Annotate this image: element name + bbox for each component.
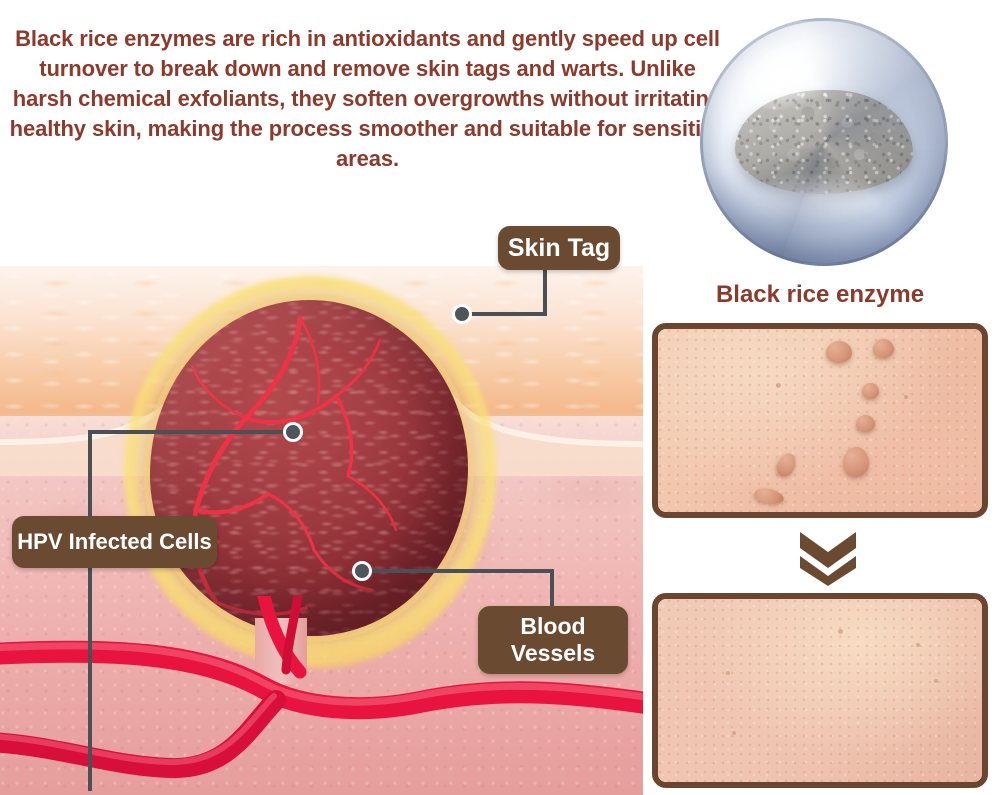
after-photo xyxy=(652,593,988,788)
poster-root: Black rice enzymes are rich in antioxida… xyxy=(0,0,1000,795)
after-freckle-2 xyxy=(916,643,920,647)
ingredient-caption: Black rice enzyme xyxy=(650,281,990,309)
after-freckle-1 xyxy=(838,629,843,634)
skin-tag-1 xyxy=(826,341,852,363)
before-pore-texture xyxy=(658,329,982,512)
leader-skin-tag xyxy=(462,270,545,314)
label-skin-tag[interactable]: Skin Tag xyxy=(498,226,620,270)
label-blood-vessels[interactable]: Blood Vessels xyxy=(478,606,628,674)
callout-dot-blood-vessels xyxy=(352,561,372,581)
headline-text: Black rice enzymes are rich in antioxida… xyxy=(0,24,735,174)
after-freckle-3 xyxy=(726,671,730,675)
skin-tag-2 xyxy=(873,339,894,358)
callout-dot-hpv xyxy=(283,422,303,442)
skin-tag-3 xyxy=(862,383,879,399)
label-blood-line2: Vessels xyxy=(511,640,595,667)
leader-hpv xyxy=(90,432,293,791)
skin-tag-5 xyxy=(843,447,869,477)
skin-tag-4 xyxy=(856,415,875,432)
before-photo xyxy=(652,323,988,518)
before-freckle-2 xyxy=(904,395,908,399)
leader-blood-vessels xyxy=(362,571,552,606)
before-freckle-1 xyxy=(776,383,781,388)
label-hpv-infected-cells[interactable]: HPV Infected Cells xyxy=(12,516,217,568)
black-rice-enzyme-sphere xyxy=(700,18,948,266)
callout-dot-skin-tag xyxy=(452,304,472,324)
sphere-rim xyxy=(700,18,948,266)
after-freckle-5 xyxy=(732,731,736,735)
after-pore-texture xyxy=(658,599,982,782)
transition-arrow xyxy=(798,530,858,586)
label-blood-line1: Blood xyxy=(511,613,595,640)
after-freckle-4 xyxy=(934,679,938,683)
